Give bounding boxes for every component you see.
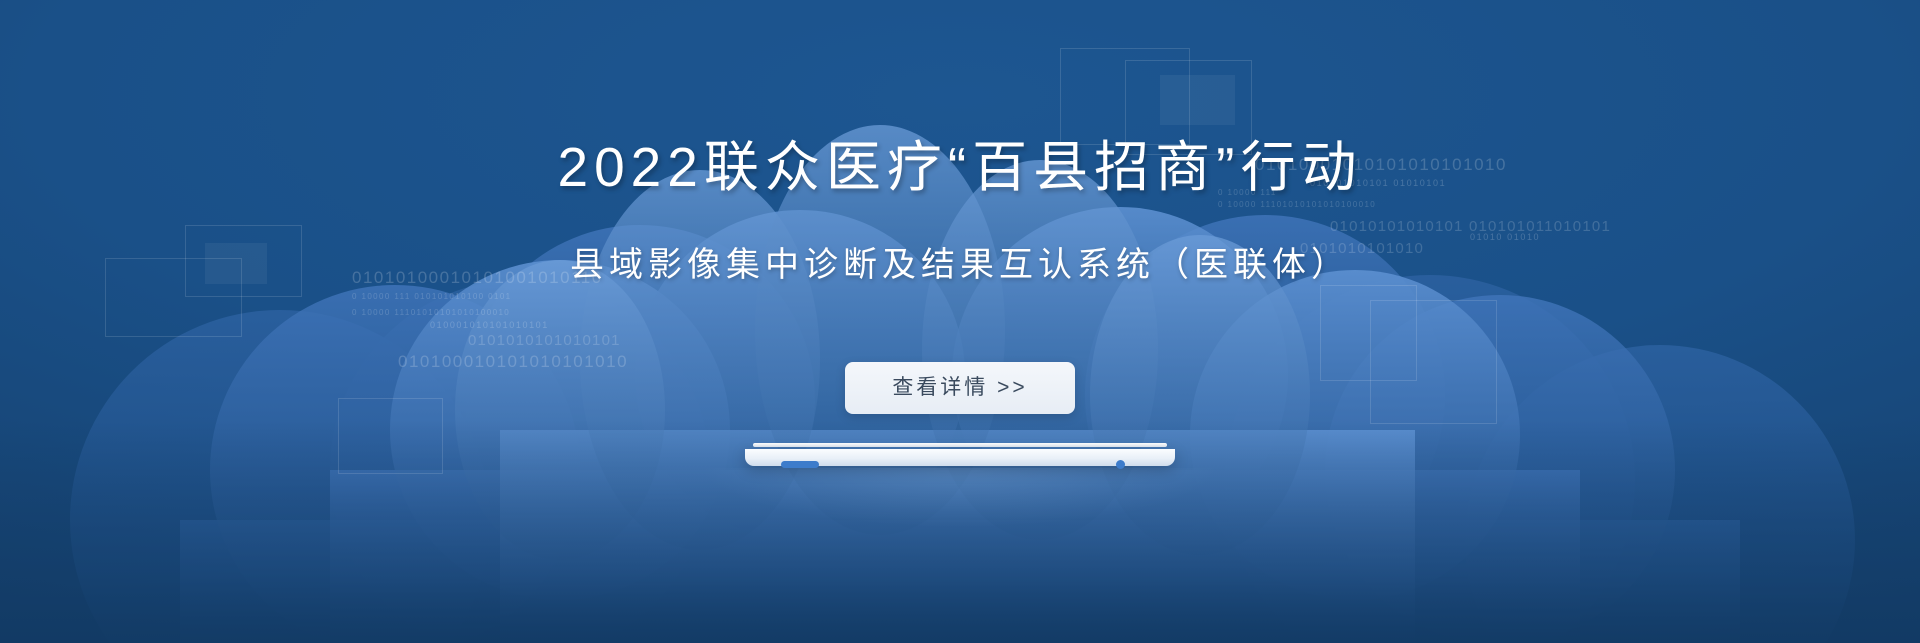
laptop-indicator-bar (781, 461, 819, 468)
laptop-screen-edge (753, 443, 1167, 447)
view-details-button[interactable]: 查看详情 >> (845, 362, 1075, 414)
banner-title: 2022联众医疗“百县招商”行动 (0, 135, 1920, 199)
laptop-device-graphic (745, 443, 1175, 471)
banner-subtitle: 县域影像集中诊断及结果互认系统（医联体） (0, 243, 1920, 287)
laptop-indicator-dot (1116, 460, 1125, 469)
banner-content: 2022联众医疗“百县招商”行动 县域影像集中诊断及结果互认系统（医联体） 查看… (0, 0, 1920, 643)
device-glow (700, 468, 1220, 528)
cta-container: 查看详情 >> (0, 362, 1920, 414)
promo-banner: 01010100010101001010110 0 10000 111 0101… (0, 0, 1920, 643)
laptop-base (745, 449, 1175, 466)
